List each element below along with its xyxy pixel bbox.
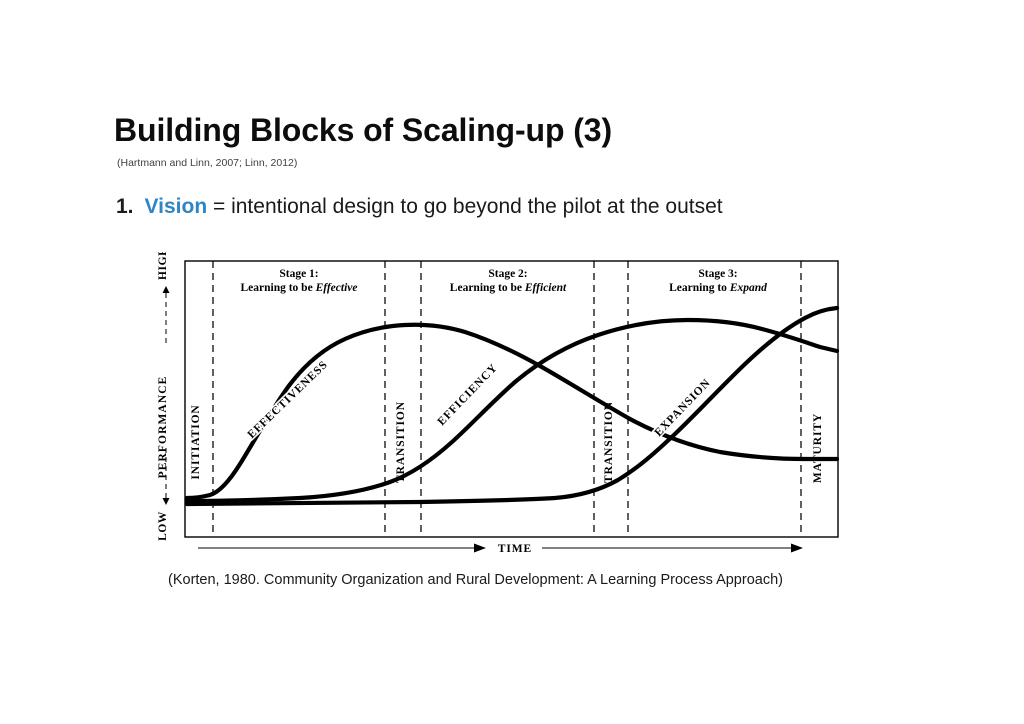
y-axis-group: HIGH PERFORMANCE LOW — [157, 252, 170, 541]
stage-heading-group: Stage 1: Learning to be Effective Stage … — [240, 268, 767, 294]
stage-3-title: Stage 3: — [698, 268, 737, 280]
title-citation: (Hartmann and Linn, 2007; Linn, 2012) — [117, 157, 297, 169]
y-axis-title: PERFORMANCE — [157, 376, 169, 479]
stage-2-title: Stage 2: — [488, 268, 527, 280]
bullet-number: 1. — [116, 195, 134, 218]
y-axis-arrow-down — [163, 498, 170, 505]
chart-svg: HIGH PERFORMANCE LOW — [140, 252, 860, 602]
y-axis-arrow-up — [163, 286, 170, 293]
y-axis-low-label: LOW — [157, 511, 169, 541]
curve-label-group: EFFECTIVENESS EFFICIENCY EXPANSION — [246, 359, 714, 441]
phase-label-maturity: MATURITY — [812, 413, 824, 483]
curve-label-effectiveness: EFFECTIVENESS — [246, 359, 331, 441]
stage-2-subtitle: Learning to be Efficient — [450, 282, 567, 294]
figure-caption: (Korten, 1980. Community Organization an… — [168, 572, 868, 588]
y-axis-high-label: HIGH — [157, 252, 169, 280]
stage-3-subtitle: Learning to Expand — [669, 282, 767, 294]
bullet-keyword: Vision — [145, 195, 208, 218]
stage-1-title: Stage 1: — [279, 268, 318, 280]
bullet-item-vision: 1.Vision = intentional design to go beyo… — [116, 194, 723, 220]
korten-learning-process-figure: HIGH PERFORMANCE LOW — [140, 252, 860, 602]
slide-canvas: Building Blocks of Scaling-up (3) (Hartm… — [0, 0, 1024, 724]
phase-label-initiation: INITIATION — [190, 404, 202, 479]
curve-label-efficiency: EFFICIENCY — [436, 362, 501, 428]
phase-label-transition-2: TRANSITION — [603, 401, 615, 483]
stage-1-subtitle: Learning to be Effective — [240, 282, 357, 294]
page-title: Building Blocks of Scaling-up (3) — [114, 112, 612, 149]
bullet-text: = intentional design to go beyond the pi… — [207, 195, 722, 218]
phase-label-group: INITIATION TRANSITION TRANSITION MATURIT… — [190, 401, 824, 483]
phase-label-transition-1: TRANSITION — [395, 401, 407, 483]
x-axis-arrow-right-head — [791, 544, 803, 553]
x-axis-group: TIME — [198, 543, 803, 555]
x-axis-arrow-left-head — [474, 544, 486, 553]
x-axis-title: TIME — [498, 543, 532, 555]
